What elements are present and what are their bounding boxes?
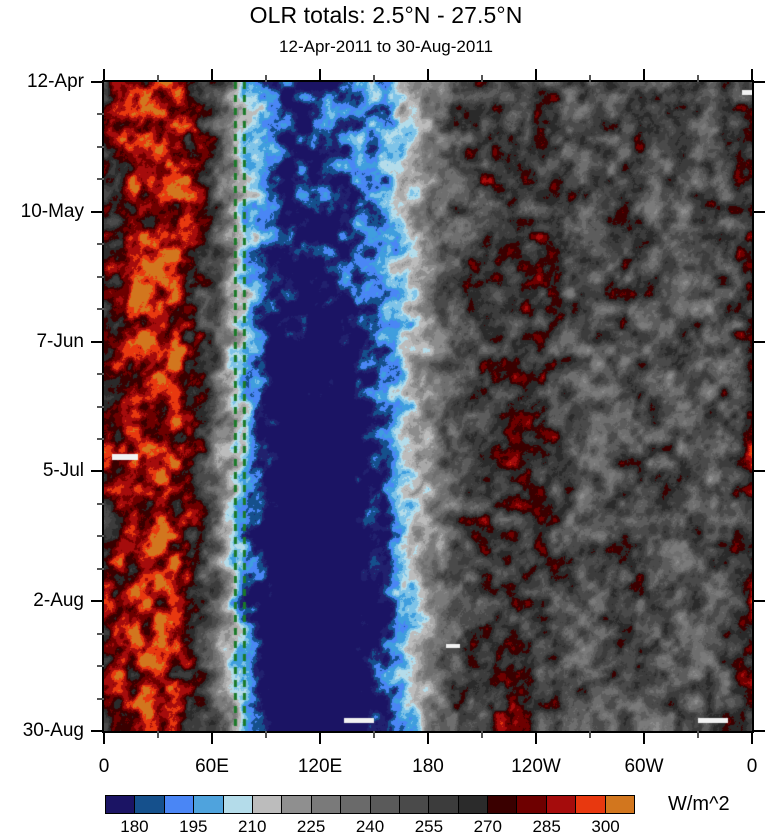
- y-axis-minor-tick: [97, 568, 104, 570]
- colorbar-swatch: [606, 796, 634, 813]
- x-axis-major-tick: [643, 731, 645, 744]
- y-axis-major-tick-right: [752, 730, 765, 732]
- y-axis-minor-tick: [97, 276, 104, 278]
- x-axis-major-tick: [535, 731, 537, 744]
- x-axis-minor-tick-top: [589, 75, 591, 82]
- colorbar-tick-label: 225: [297, 817, 325, 837]
- colorbar-swatch: [341, 796, 370, 813]
- x-axis-tick-label: 60W: [624, 756, 663, 778]
- y-axis-tick-label: 5-Jul: [43, 460, 84, 482]
- hovmoller-heatmap-canvas: [104, 82, 752, 731]
- y-axis-major-tick: [91, 470, 104, 472]
- y-axis-major-tick: [91, 341, 104, 343]
- colorbar-tick-label: 285: [532, 817, 560, 837]
- colorbar-tick-label: 255: [415, 817, 443, 837]
- y-axis-tick-label: 30-Aug: [23, 720, 84, 742]
- figure-root: OLR totals: 2.5°N - 27.5°N 12-Apr-2011 t…: [0, 0, 772, 834]
- y-axis-major-tick: [91, 600, 104, 602]
- y-axis-major-tick-right: [752, 211, 765, 213]
- colorbar-swatch: [106, 796, 135, 813]
- x-axis-major-tick-top: [535, 69, 537, 82]
- y-axis-minor-tick: [97, 633, 104, 635]
- x-axis-tick-label: 0: [99, 756, 110, 778]
- x-axis-tick-label: 120E: [298, 756, 342, 778]
- colorbar-swatch: [135, 796, 164, 813]
- x-axis-major-tick-top: [751, 69, 753, 82]
- colorbar: [105, 795, 635, 814]
- y-axis-major-tick: [91, 211, 104, 213]
- page-title: OLR totals: 2.5°N - 27.5°N: [0, 2, 772, 29]
- x-axis-tick-label: 60E: [195, 756, 229, 778]
- colorbar-swatch: [547, 796, 576, 813]
- x-axis-minor-tick: [373, 731, 375, 738]
- x-axis-minor-tick: [265, 731, 267, 738]
- y-axis-tick-label: 7-Jun: [36, 331, 84, 353]
- y-axis-minor-tick: [97, 698, 104, 700]
- x-axis-major-tick: [211, 731, 213, 744]
- x-axis-minor-tick: [157, 731, 159, 738]
- x-axis-major-tick-top: [319, 69, 321, 82]
- y-axis-major-tick-right: [752, 341, 765, 343]
- colorbar-swatch: [282, 796, 311, 813]
- x-axis-minor-tick: [589, 731, 591, 738]
- x-axis-minor-tick-top: [157, 75, 159, 82]
- colorbar-swatch: [224, 796, 253, 813]
- x-axis-major-tick-top: [211, 69, 213, 82]
- x-axis-major-tick: [427, 731, 429, 744]
- x-axis-minor-tick-top: [697, 75, 699, 82]
- y-axis-minor-tick: [97, 373, 104, 375]
- y-axis-minor-tick: [97, 503, 104, 505]
- x-axis-minor-tick: [697, 731, 699, 738]
- y-axis-minor-tick: [97, 113, 104, 115]
- colorbar-swatch: [312, 796, 341, 813]
- y-axis-labels: 12-Apr10-May7-Jun5-Jul2-Aug30-Aug: [0, 0, 84, 834]
- x-axis-tick-label: 180: [412, 756, 444, 778]
- x-axis-minor-tick-top: [481, 75, 483, 82]
- y-axis-major-tick-right: [752, 600, 765, 602]
- colorbar-swatch: [517, 796, 546, 813]
- colorbar-swatch: [194, 796, 223, 813]
- hovmoller-plot-area: [104, 82, 752, 731]
- colorbar-swatch: [488, 796, 517, 813]
- colorbar-tick-label: 300: [591, 817, 619, 837]
- colorbar-tick-label: 180: [120, 817, 148, 837]
- colorbar-swatch: [459, 796, 488, 813]
- y-axis-minor-tick: [97, 243, 104, 245]
- x-axis-tick-label: 120W: [511, 756, 561, 778]
- colorbar-swatch: [253, 796, 282, 813]
- colorbar-tick-label: 270: [474, 817, 502, 837]
- colorbar-swatch: [576, 796, 605, 813]
- y-axis-minor-tick: [97, 665, 104, 667]
- y-axis-minor-tick: [97, 438, 104, 440]
- y-axis-minor-tick: [97, 308, 104, 310]
- colorbar-swatch: [429, 796, 458, 813]
- x-axis-major-tick: [751, 731, 753, 744]
- x-axis-major-tick-top: [643, 69, 645, 82]
- colorbar-tick-label: 210: [238, 817, 266, 837]
- y-axis-tick-label: 12-Apr: [27, 71, 84, 93]
- y-axis-minor-tick: [97, 178, 104, 180]
- x-axis-minor-tick-top: [373, 75, 375, 82]
- x-axis-major-tick: [319, 731, 321, 744]
- y-axis-minor-tick: [97, 406, 104, 408]
- y-axis-tick-label: 2-Aug: [33, 590, 84, 612]
- y-axis-minor-tick: [97, 535, 104, 537]
- y-axis-major-tick-right: [752, 470, 765, 472]
- y-axis-major-tick-right: [752, 81, 765, 83]
- colorbar-swatch: [371, 796, 400, 813]
- colorbar-tick-label: 240: [356, 817, 384, 837]
- colorbar-unit-label: W/m^2: [668, 793, 730, 816]
- x-axis-major-tick-top: [427, 69, 429, 82]
- page-subtitle: 12-Apr-2011 to 30-Aug-2011: [0, 37, 772, 57]
- x-axis-major-tick: [103, 731, 105, 744]
- x-axis-minor-tick-top: [265, 75, 267, 82]
- x-axis-major-tick-top: [103, 69, 105, 82]
- x-axis-tick-label: 0: [747, 756, 758, 778]
- colorbar-swatch: [165, 796, 194, 813]
- x-axis-minor-tick: [481, 731, 483, 738]
- colorbar-tick-label: 195: [179, 817, 207, 837]
- colorbar-swatch: [400, 796, 429, 813]
- y-axis-minor-tick: [97, 146, 104, 148]
- y-axis-tick-label: 10-May: [21, 201, 84, 223]
